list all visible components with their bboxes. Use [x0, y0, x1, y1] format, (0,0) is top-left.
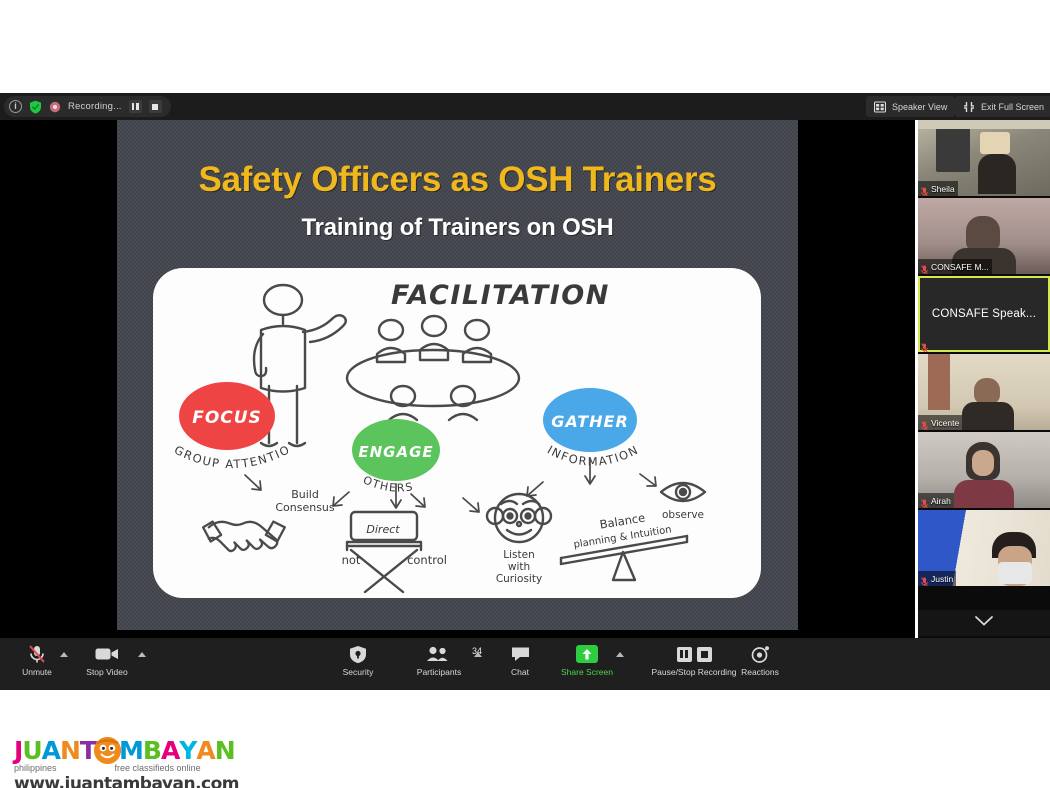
exit-full-screen-button[interactable]: Exit Full Screen	[955, 96, 1050, 117]
shield-icon[interactable]	[29, 100, 42, 114]
microphone-muted-icon	[921, 340, 928, 350]
node-gather: GATHER INFORMATION	[543, 388, 641, 469]
participants-label: Participants	[417, 667, 461, 677]
handshake-icon	[203, 522, 285, 551]
security-button[interactable]: Security	[323, 644, 393, 686]
logo-letter-m: M	[119, 736, 143, 765]
participant-name: Justin	[931, 574, 953, 584]
participant-name-bar: Justin	[918, 571, 956, 586]
share-screen-icon	[576, 644, 598, 664]
participant-name: CONSAFE M...	[931, 262, 989, 272]
logo-letter-n: N	[60, 736, 80, 765]
svg-text:GATHER: GATHER	[551, 412, 629, 431]
juantambayan-watermark: J U A N T M B A Y A N philippines	[14, 735, 239, 788]
slide-subtitle: Training of Trainers on OSH	[117, 214, 798, 242]
logo-letter-a: A	[42, 736, 60, 765]
chevron-down-icon	[974, 614, 994, 632]
participants-filmstrip: Sheila CONSAFE M... CONSAFE Speak...	[918, 120, 1050, 638]
video-options-caret-icon[interactable]	[138, 652, 146, 657]
audio-options-caret-icon[interactable]	[60, 652, 68, 657]
microphone-muted-icon	[921, 496, 928, 506]
svg-text:Direct: Direct	[366, 523, 400, 536]
shield-icon	[349, 644, 367, 664]
tagline-right: free classifieds online	[115, 763, 201, 773]
participant-tile-airah[interactable]: Airah	[918, 432, 1050, 508]
participant-name: Sheila	[931, 184, 955, 194]
reactions-button[interactable]: Reactions	[725, 644, 795, 686]
caption-build-consensus: Build Consensus	[275, 488, 335, 514]
logo-letter-n2: N	[215, 736, 235, 765]
speaker-view-button[interactable]: Speaker View	[866, 96, 955, 117]
diagram-heading: FACILITATION	[391, 280, 610, 311]
recording-label: Recording...	[68, 101, 122, 112]
exit-full-screen-label: Exit Full Screen	[981, 102, 1044, 112]
listen-icon: Listen with Curiosity	[487, 494, 551, 585]
watermark-logo: J U A N T M B A Y A N	[14, 735, 239, 765]
arrows-in-icon	[963, 101, 975, 113]
chat-bubble-icon	[511, 644, 530, 664]
microphone-muted-icon	[27, 644, 47, 664]
reactions-label: Reactions	[741, 667, 779, 677]
microphone-muted-icon	[921, 184, 928, 194]
logo-letter-a3: A	[196, 736, 214, 765]
observe-icon: observe	[661, 483, 705, 521]
logo-letter-j: J	[14, 736, 22, 765]
participant-name-bar: Vicente	[918, 415, 962, 430]
participant-name-bar	[918, 337, 931, 352]
grid-view-icon	[874, 101, 886, 113]
presentation-slide: Safety Officers as OSH Trainers Training…	[117, 120, 798, 630]
svg-text:ENGAGE: ENGAGE	[358, 443, 433, 461]
node-focus: FOCUS GROUP ATTENTION	[153, 268, 293, 471]
tagline-left: philippines	[14, 763, 57, 773]
svg-text:Listen: Listen	[503, 549, 534, 561]
svg-text:with: with	[508, 561, 530, 573]
participant-tile-justin[interactable]: Justin	[918, 510, 1050, 586]
mascot-face-icon	[94, 737, 121, 764]
logo-letter-u: U	[22, 736, 41, 765]
participant-name: Vicente	[931, 418, 959, 428]
svg-text:Curiosity: Curiosity	[496, 573, 542, 585]
security-label: Security	[343, 667, 374, 677]
meeting-table-group	[347, 316, 519, 420]
svg-text:control: control	[407, 553, 447, 567]
recording-dot-icon[interactable]	[49, 101, 61, 113]
participant-name-bar: CONSAFE M...	[918, 259, 992, 274]
svg-text:FOCUS: FOCUS	[192, 408, 262, 428]
filmstrip-scroll-down-button[interactable]	[918, 610, 1050, 636]
video-camera-icon	[95, 644, 119, 664]
share-screen-button[interactable]: Share Screen	[552, 644, 622, 686]
shared-screen-stage: Safety Officers as OSH Trainers Training…	[0, 120, 915, 638]
reactions-icon	[751, 644, 770, 664]
info-icon[interactable]: i	[9, 100, 22, 113]
pause-stop-recording-label: Pause/Stop Recording	[651, 667, 736, 677]
participant-tile-consafe-m[interactable]: CONSAFE M...	[918, 198, 1050, 274]
svg-text:observe: observe	[662, 509, 704, 521]
watermark-url: www.juantambayan.com	[14, 774, 239, 788]
svg-text:Build: Build	[291, 488, 319, 501]
svg-text:Consensus: Consensus	[275, 501, 335, 514]
participants-button[interactable]: 34 Participants	[404, 644, 474, 686]
microphone-muted-icon	[921, 418, 928, 428]
participant-name: Airah	[931, 496, 951, 506]
meeting-control-bar: Unmute Stop Video Security 34 Participan…	[0, 638, 1050, 690]
pause-stop-icon	[677, 644, 712, 664]
directors-chair-icon: Direct not control	[342, 512, 447, 592]
participant-name-bar: Sheila	[918, 181, 958, 196]
pause-icon[interactable]	[129, 100, 142, 113]
logo-letter-b: B	[143, 736, 161, 765]
share-screen-label: Share Screen	[561, 667, 613, 677]
people-icon: 34	[426, 644, 452, 664]
facilitation-diagram: .hand { font-family:"DejaVu Sans", sans-…	[153, 268, 761, 598]
participant-name-bar: Airah	[918, 493, 954, 508]
participant-tile-vicente[interactable]: Vicente	[918, 354, 1050, 430]
unmute-label: Unmute	[22, 667, 52, 677]
chat-label: Chat	[511, 667, 529, 677]
participant-display-name: CONSAFE Speak...	[918, 276, 1050, 352]
stop-icon[interactable]	[149, 100, 162, 113]
logo-letter-a2: A	[161, 736, 179, 765]
share-options-caret-icon[interactable]	[616, 652, 624, 657]
recording-status-group: i Recording...	[4, 96, 171, 117]
chat-button[interactable]: Chat	[485, 644, 555, 686]
unmute-button[interactable]: Unmute	[2, 644, 72, 686]
microphone-muted-icon	[921, 574, 928, 584]
meeting-top-toolbar: i Recording... Install Missing Content U…	[0, 93, 1050, 120]
stop-video-button[interactable]: Stop Video	[72, 644, 142, 686]
logo-letter-y: Y	[179, 736, 196, 765]
watermark-tagline: philippines free classifieds online	[14, 763, 239, 773]
participant-tile-consafe-speaker[interactable]: CONSAFE Speak...	[918, 276, 1050, 352]
speaker-view-label: Speaker View	[892, 102, 947, 112]
microphone-muted-icon	[921, 262, 928, 272]
stop-video-label: Stop Video	[86, 667, 127, 677]
slide-title: Safety Officers as OSH Trainers	[117, 160, 798, 200]
facilitation-diagram-card: .hand { font-family:"DejaVu Sans", sans-…	[153, 268, 761, 598]
svg-text:not: not	[342, 553, 361, 567]
zoom-meeting-window: i Recording... Install Missing Content U…	[0, 0, 1050, 788]
participants-options-caret-icon[interactable]	[474, 652, 482, 657]
participant-tile-sheila[interactable]: Sheila	[918, 120, 1050, 196]
